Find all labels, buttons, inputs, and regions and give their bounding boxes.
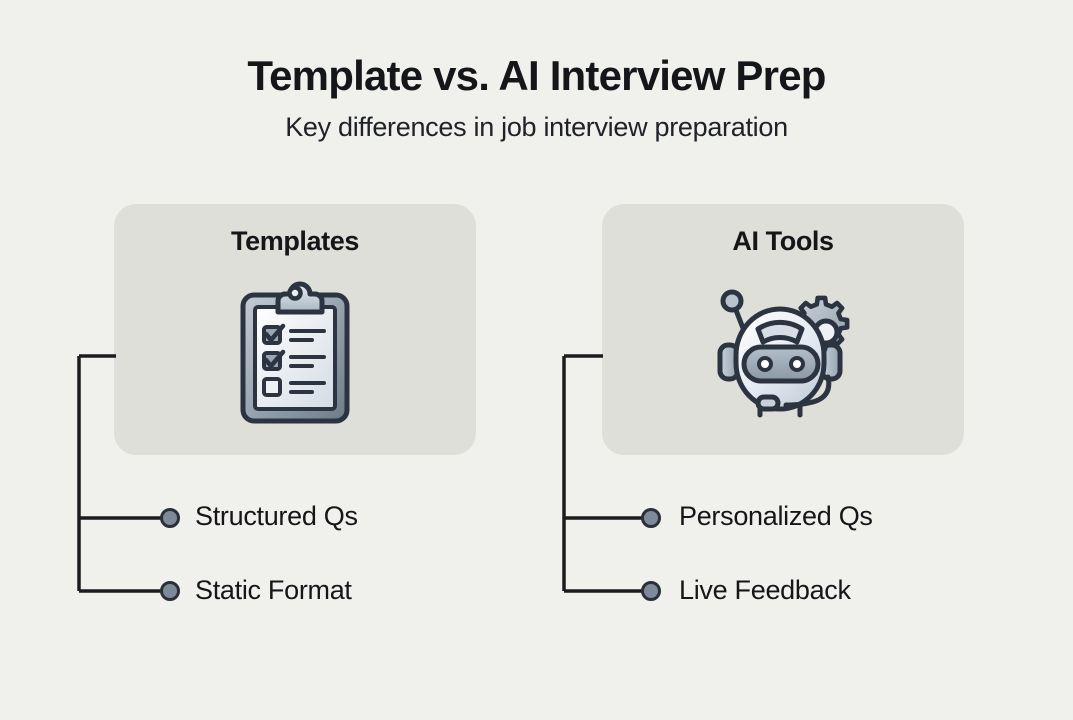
bullet-dot — [643, 583, 660, 600]
page-title: Template vs. AI Interview Prep — [0, 52, 1073, 99]
bullet-dot — [643, 510, 660, 527]
page-subtitle: Key differences in job interview prepara… — [0, 111, 1073, 143]
bullet-dot — [162, 583, 179, 600]
card-title-ai-tools: AI Tools — [602, 226, 964, 257]
clipboard-checklist-icon — [114, 274, 476, 434]
bullet-label-structured-qs: Structured Qs — [195, 503, 358, 530]
bullet-label-personalized-qs: Personalized Qs — [679, 503, 873, 530]
card-ai-tools: AI Tools — [602, 204, 964, 455]
bullet-dot — [162, 510, 179, 527]
infographic-canvas: Template vs. AI Interview Prep Key diffe… — [0, 0, 1073, 720]
robot-headset-gear-icon — [602, 274, 964, 434]
card-templates: Templates — [114, 204, 476, 455]
bullet-label-static-format: Static Format — [195, 577, 352, 604]
card-title-templates: Templates — [114, 226, 476, 257]
bullet-label-live-feedback: Live Feedback — [679, 577, 851, 604]
header: Template vs. AI Interview Prep Key diffe… — [0, 52, 1073, 143]
